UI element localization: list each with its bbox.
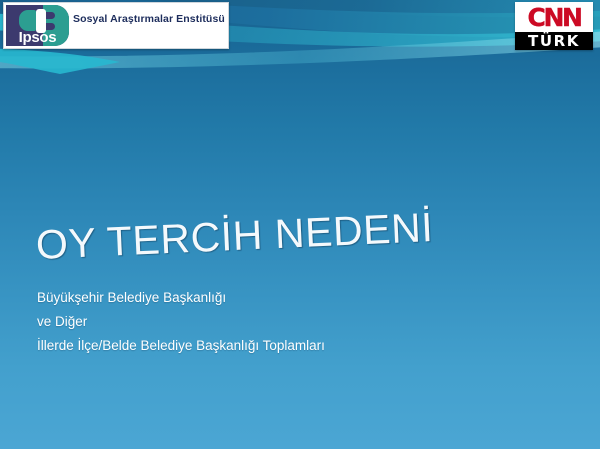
- cnn-wordmark: CNN: [528, 5, 581, 30]
- presentation-slide: Ipsos Sosyal Araştırmalar Enstitüsü CNN …: [0, 0, 600, 449]
- cnn-logo-bottom: TÜRK: [515, 32, 593, 50]
- subtitle-line-3: İllerde İlçe/Belde Belediye Başkanlığı T…: [37, 334, 467, 358]
- cnnturk-logo: CNN TÜRK: [515, 2, 593, 50]
- subtitle-line-1: Büyükşehir Belediye Başkanlığı: [37, 286, 467, 310]
- slide-subtitle: Büyükşehir Belediye Başkanlığı ve Diğer …: [37, 286, 467, 358]
- ipsos-icon-shape-a: [19, 10, 36, 31]
- subtitle-line-2: ve Diğer: [37, 310, 467, 334]
- cnn-logo-top: CNN: [515, 2, 593, 32]
- swoosh-tail-left: [0, 48, 120, 74]
- ipsos-logo-icon: Ipsos: [6, 5, 69, 46]
- turk-wordmark: TÜRK: [528, 34, 580, 49]
- slide-title-text: OY TERCİH NEDENİ: [35, 204, 434, 268]
- slide-title: OY TERCİH NEDENİ: [35, 204, 434, 268]
- ipsos-logo-plate: Ipsos Sosyal Araştırmalar Enstitüsü: [3, 2, 229, 49]
- ipsos-tagline: Sosyal Araştırmalar Enstitüsü: [69, 3, 231, 48]
- ipsos-wordmark: Ipsos: [6, 30, 69, 45]
- ipsos-icon-shape-c: [46, 12, 55, 19]
